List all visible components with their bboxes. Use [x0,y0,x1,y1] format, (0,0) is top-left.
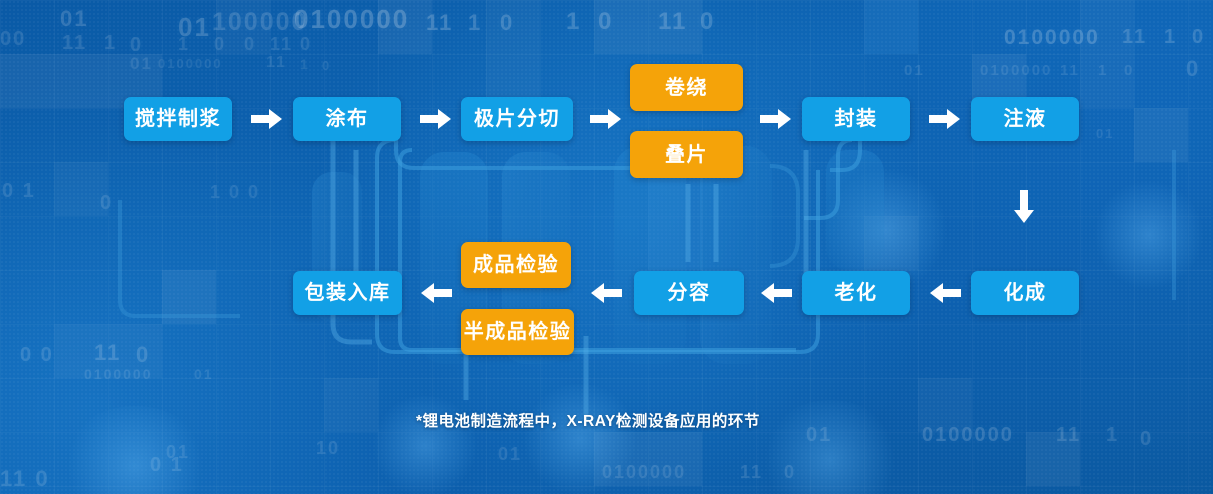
arrow-right-icon [760,108,792,130]
flow-node-label: 包装入库 [305,283,391,303]
flow-node-label: 化成 [1004,283,1047,303]
arrow-left-icon [760,282,792,304]
flow-node-label: 分容 [668,283,711,303]
flow-node-label: 封装 [835,109,878,129]
flow-node-label: 成品检验 [473,255,559,275]
flow-node-stacking[interactable]: 叠片 [630,131,743,178]
flow-node-warehousing[interactable]: 包装入库 [293,271,402,315]
arrow-left-icon [590,282,622,304]
arrow-right-icon [929,108,961,130]
flow-node-label: 涂布 [326,109,369,129]
flow-node-coating[interactable]: 涂布 [293,97,401,141]
flow-node-label: 注液 [1004,109,1047,129]
flow-node-label: 搅拌制浆 [135,109,221,129]
arrow-left-icon [929,282,961,304]
flow-node-packaging[interactable]: 封装 [802,97,910,141]
flow-node-semi-inspect[interactable]: 半成品检验 [461,309,574,355]
flow-node-label: 极片分切 [474,109,560,129]
flow-node-label: 卷绕 [665,78,708,98]
flow-node-filling[interactable]: 注液 [971,97,1079,141]
flow-node-formation[interactable]: 化成 [971,271,1079,315]
diagram-caption: *锂电池制造流程中，X-RAY检测设备应用的环节 [416,409,760,431]
arrow-right-icon [251,108,283,130]
flow-node-label: 老化 [835,283,878,303]
flow-node-aging[interactable]: 老化 [802,271,910,315]
flow-node-slitting[interactable]: 极片分切 [461,97,573,141]
flow-node-label: 叠片 [665,145,708,165]
flow-node-label: 半成品检验 [464,322,572,342]
arrow-down-icon [1013,190,1035,224]
flow-node-winding[interactable]: 卷绕 [630,64,743,111]
arrow-right-icon [420,108,452,130]
arrow-right-icon [590,108,622,130]
flow-node-final-inspect[interactable]: 成品检验 [461,242,571,288]
arrow-left-icon [420,282,452,304]
flow-node-capacity-grading[interactable]: 分容 [634,271,744,315]
flow-node-mixing[interactable]: 搅拌制浆 [124,97,232,141]
diagram-canvas: 0101100000010000011101011001000001110001… [0,0,1213,494]
